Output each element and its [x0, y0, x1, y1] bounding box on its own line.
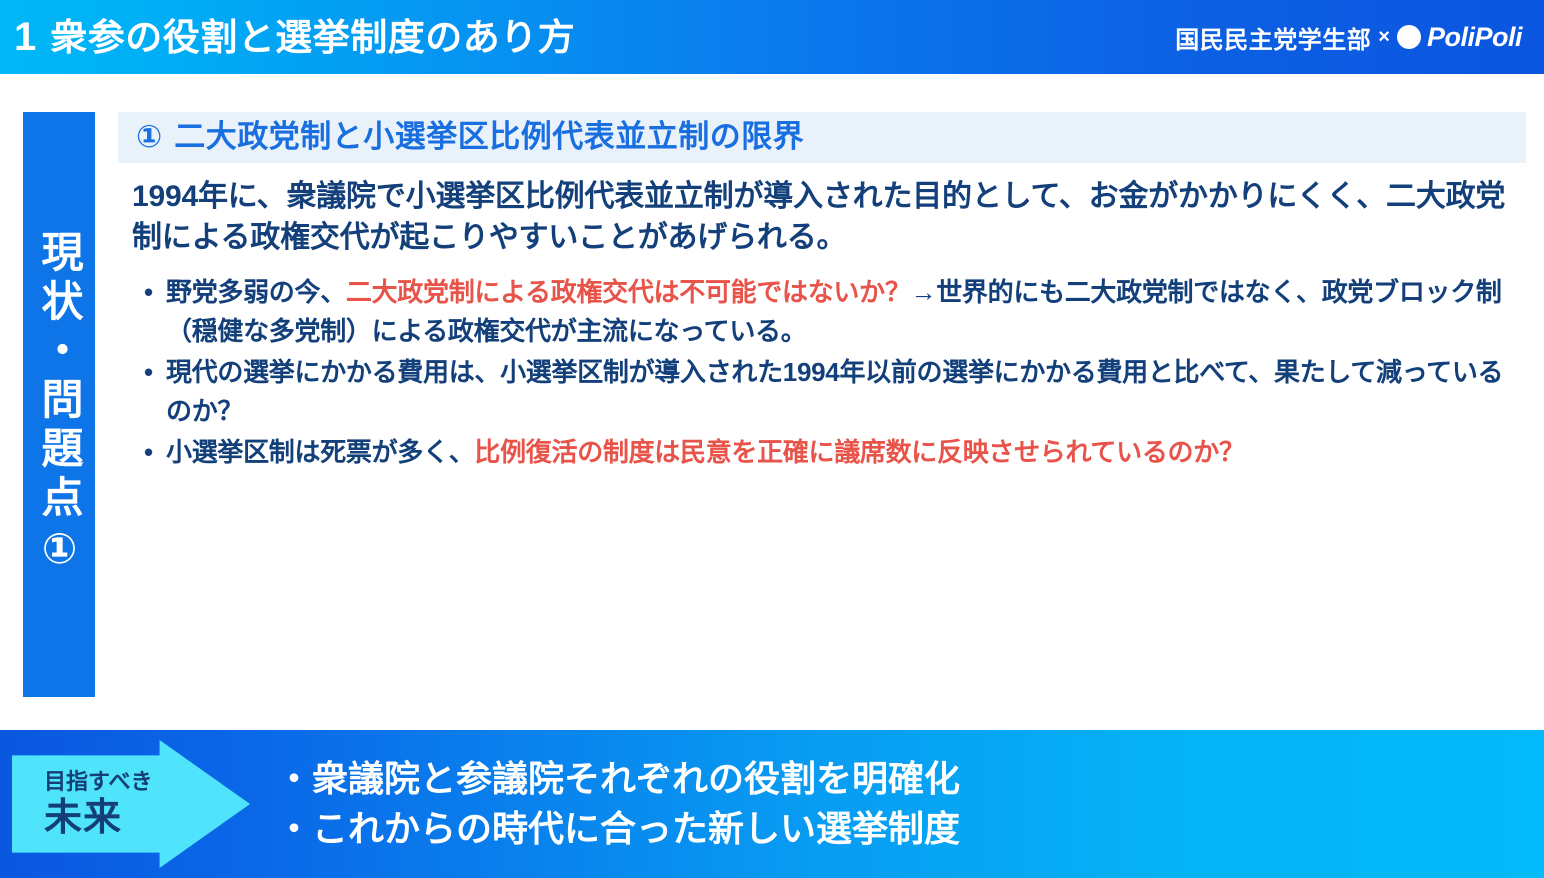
future-banner: 目指すべき 未来 ・衆議院と参議院それぞれの役割を明確化・これからの時代に合った…	[0, 730, 1544, 878]
slide-header: 1 衆参の役割と選挙制度のあり方 国民民主党学生部 × PoliPoli	[0, 0, 1544, 74]
bullet-item: 現代の選挙にかかる費用は、小選挙区制が導入された1994年以前の選挙にかかる費用…	[140, 353, 1528, 431]
bullet-text: 小選挙区制は死票が多く、	[166, 437, 474, 467]
section-heading-text: 二大政党制と小選挙区比例代表並立制の限界	[174, 121, 804, 152]
future-points: ・衆議院と参議院それぞれの役割を明確化・これからの時代に合った新しい選挙制度	[276, 755, 960, 852]
future-arrow-text: 目指すべき 未来	[12, 771, 152, 837]
bullet-text: 野党多弱の今、	[166, 277, 346, 307]
bullet-item: 小選挙区制は死票が多く、比例復活の制度は民意を正確に議席数に反映させられているの…	[140, 433, 1528, 472]
section-heading-number: ①	[136, 121, 162, 152]
lead-paragraph: 1994年に、衆議院で小選挙区比例代表並立制が導入された目的として、お金がかかり…	[132, 176, 1514, 259]
future-arrow-badge: 目指すべき 未来	[12, 740, 250, 868]
slide-number: 1	[14, 17, 36, 57]
cross-symbol: ×	[1378, 26, 1390, 49]
polipoli-circle-icon	[1397, 25, 1421, 49]
future-point-line: ・これからの時代に合った新しい選挙制度	[276, 805, 960, 853]
bullet-text: 現代の選挙にかかる費用は、小選挙区制が導入された1994年以前の選挙にかかる費用…	[166, 357, 1503, 426]
header-title-group: 1 衆参の役割と選挙制度のあり方	[14, 17, 575, 57]
bullet-item: 野党多弱の今、二大政党制による政権交代は不可能ではないか？→世界的にも二大政党制…	[140, 273, 1528, 351]
bullet-highlight-text: 比例復活の制度は民意を正確に議席数に反映させられているのか？	[474, 437, 1244, 467]
bullet-list: 野党多弱の今、二大政党制による政権交代は不可能ではないか？→世界的にも二大政党制…	[140, 273, 1528, 472]
slide-title: 衆参の役割と選挙制度のあり方	[50, 19, 575, 56]
section-heading: ① 二大政党制と小選挙区比例代表並立制の限界	[118, 112, 1526, 163]
future-point-line: ・衆議院と参議院それぞれの役割を明確化	[276, 755, 960, 803]
brand-name: PoliPoli	[1427, 22, 1522, 53]
brand-lockup: 国民民主党学生部 × PoliPoli	[1175, 20, 1522, 55]
future-label-large: 未来	[44, 799, 152, 837]
brand-organization: 国民民主党学生部	[1175, 20, 1371, 55]
section-sidebar: 現状・問題点①	[23, 112, 95, 697]
main-content: ① 二大政党制と小選挙区比例代表並立制の限界 1994年に、衆議院で小選挙区比例…	[118, 112, 1528, 697]
bullet-highlight-text: 二大政党制による政権交代は不可能ではないか？	[346, 277, 911, 307]
sidebar-label: 現状・問題点①	[37, 230, 81, 580]
future-label-small: 目指すべき	[44, 771, 152, 793]
